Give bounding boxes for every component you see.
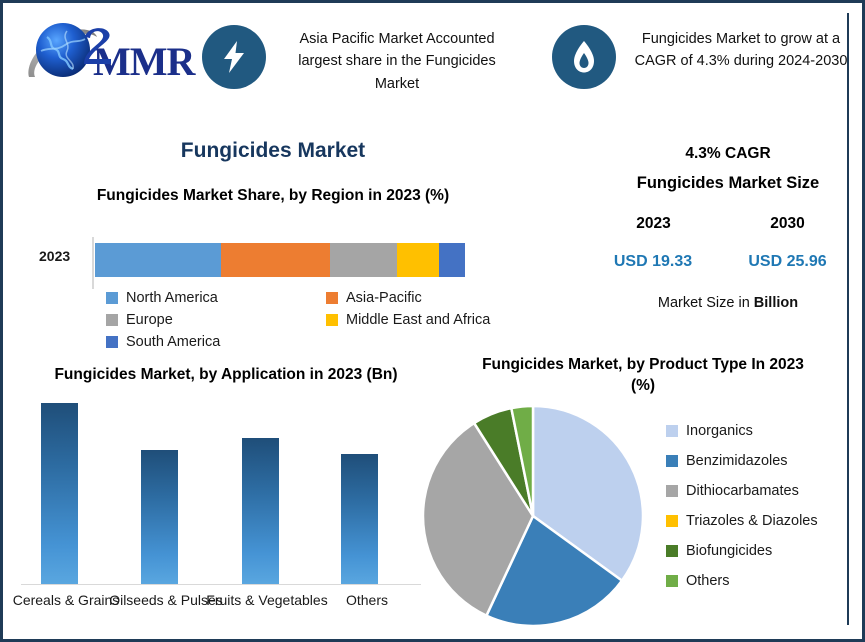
right-accent-rule bbox=[847, 13, 849, 625]
region-chart-axis bbox=[92, 237, 94, 289]
legend-item-others[interactable]: Others bbox=[666, 573, 818, 589]
market-size-year-start: 2023 bbox=[601, 215, 706, 233]
infographic-root: MMR Asia Pacific Market Accounted larges… bbox=[0, 0, 865, 642]
legend-item-dithiocarbamates[interactable]: Dithiocarbamates bbox=[666, 483, 818, 499]
application-chart-title: Fungicides Market, by Application in 202… bbox=[31, 365, 421, 386]
application-chart-plot bbox=[21, 403, 421, 585]
legend-swatch-others bbox=[666, 575, 678, 587]
application-chart-baseline bbox=[21, 584, 421, 585]
product-type-legend: Inorganics Benzimidazoles Dithiocarbamat… bbox=[666, 423, 818, 589]
legend-swatch-north-america bbox=[106, 292, 118, 304]
market-size-value-start: USD 19.33 bbox=[593, 253, 713, 271]
stack-segment-mea[interactable] bbox=[397, 243, 440, 277]
legend-item-south-america[interactable]: South America bbox=[106, 334, 326, 350]
market-size-footnote-unit: Billion bbox=[754, 295, 798, 311]
legend-swatch-europe bbox=[106, 314, 118, 326]
legend-label-biofungicides: Biofungicides bbox=[686, 543, 772, 559]
flame-droplet-icon bbox=[552, 25, 616, 89]
application-bar-fruits-vegetables[interactable] bbox=[242, 438, 279, 585]
header-left-stat-text: Asia Pacific Market Accounted largest sh… bbox=[279, 28, 515, 95]
product-type-chart-title: Fungicides Market, by Product Type In 20… bbox=[473, 355, 813, 397]
legend-item-north-america[interactable]: North America bbox=[106, 290, 326, 306]
region-chart-category-label: 2023 bbox=[39, 248, 70, 264]
legend-swatch-south-america bbox=[106, 336, 118, 348]
globe-flourish-icon bbox=[81, 25, 115, 70]
legend-label-south-america: South America bbox=[126, 334, 220, 350]
legend-swatch-dithiocarbamates bbox=[666, 485, 678, 497]
stack-segment-asia-pacific[interactable] bbox=[221, 243, 330, 277]
legend-label-north-america: North America bbox=[126, 290, 218, 306]
stack-segment-south-america[interactable] bbox=[439, 243, 465, 277]
legend-label-asia-pacific: Asia-Pacific bbox=[346, 290, 422, 306]
product-type-pie bbox=[418, 401, 648, 636]
legend-item-biofungicides[interactable]: Biofungicides bbox=[666, 543, 818, 559]
mmr-logo: MMR bbox=[23, 17, 194, 96]
application-bar-cereals-grains[interactable] bbox=[41, 403, 78, 585]
market-size-title: Fungicides Market Size bbox=[598, 174, 858, 193]
legend-item-asia-pacific[interactable]: Asia-Pacific bbox=[326, 290, 546, 306]
legend-swatch-biofungicides bbox=[666, 545, 678, 557]
application-bar-oilseeds-pulses[interactable] bbox=[141, 450, 178, 585]
application-category-others: Others bbox=[304, 592, 430, 610]
legend-item-triazoles-diazoles[interactable]: Triazoles & Diazoles bbox=[666, 513, 818, 529]
legend-label-inorganics: Inorganics bbox=[686, 423, 753, 439]
legend-label-dithiocarbamates: Dithiocarbamates bbox=[686, 483, 799, 499]
cagr-value: 4.3% CAGR bbox=[603, 145, 853, 163]
market-size-footnote: Market Size in Billion bbox=[598, 295, 858, 311]
legend-label-mea: Middle East and Africa bbox=[346, 312, 490, 328]
application-bar-others[interactable] bbox=[341, 454, 378, 585]
legend-item-mea[interactable]: Middle East and Africa bbox=[326, 312, 546, 328]
region-chart-legend: North America Asia-Pacific Europe Middle… bbox=[106, 290, 546, 350]
legend-item-benzimidazoles[interactable]: Benzimidazoles bbox=[666, 453, 818, 469]
legend-label-europe: Europe bbox=[126, 312, 173, 328]
legend-label-others: Others bbox=[686, 573, 730, 589]
legend-swatch-mea bbox=[326, 314, 338, 326]
stack-segment-europe[interactable] bbox=[330, 243, 397, 277]
legend-item-inorganics[interactable]: Inorganics bbox=[666, 423, 818, 439]
region-stacked-bar bbox=[95, 243, 465, 277]
market-size-year-end: 2030 bbox=[735, 215, 840, 233]
region-chart-title: Fungicides Market Share, by Region in 20… bbox=[58, 186, 488, 207]
legend-item-europe[interactable]: Europe bbox=[106, 312, 326, 328]
lightning-bolt-icon bbox=[202, 25, 266, 89]
legend-swatch-triazoles-diazoles bbox=[666, 515, 678, 527]
legend-label-triazoles-diazoles: Triazoles & Diazoles bbox=[686, 513, 818, 529]
page-title: Fungicides Market bbox=[63, 139, 483, 163]
legend-label-benzimidazoles: Benzimidazoles bbox=[686, 453, 788, 469]
market-size-value-end: USD 25.96 bbox=[725, 253, 850, 271]
legend-swatch-asia-pacific bbox=[326, 292, 338, 304]
market-size-footnote-prefix: Market Size in bbox=[658, 295, 754, 311]
header-right-stat-text: Fungicides Market to grow at a CAGR of 4… bbox=[625, 28, 857, 73]
stack-segment-north-america[interactable] bbox=[95, 243, 221, 277]
legend-swatch-benzimidazoles bbox=[666, 455, 678, 467]
legend-swatch-inorganics bbox=[666, 425, 678, 437]
